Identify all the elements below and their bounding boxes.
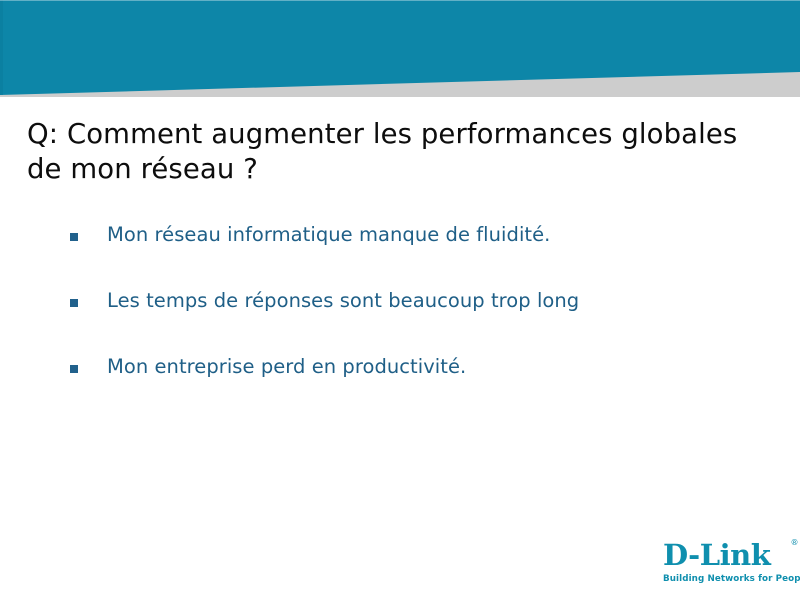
header-top-sliver (0, 0, 800, 1)
square-bullet-icon (70, 233, 78, 241)
slide-title: Q: Comment augmenter les performances gl… (27, 117, 767, 187)
square-bullet-icon (70, 299, 78, 307)
bullet-text: Mon réseau informatique manque de fluidi… (107, 222, 770, 248)
list-item: Les temps de réponses sont beaucoup trop… (70, 288, 770, 354)
dlink-wordmark-text: D-Link ® (663, 541, 791, 570)
dlink-wordmark-label: D-Link (663, 538, 770, 572)
bullet-list: Mon réseau informatique manque de fluidi… (70, 222, 770, 420)
slide: Q: Comment augmenter les performances gl… (0, 0, 800, 600)
header-left-edge (0, 0, 3, 95)
bullet-text: Mon entreprise perd en productivité. (107, 354, 770, 380)
dlink-tagline: Building Networks for People (663, 573, 785, 584)
list-item: Mon entreprise perd en productivité. (70, 354, 770, 420)
header-band (0, 0, 800, 102)
dlink-logo: D-Link ® Building Networks for People (663, 541, 791, 583)
square-bullet-icon (70, 365, 78, 373)
list-item: Mon réseau informatique manque de fluidi… (70, 222, 770, 288)
bullet-text: Les temps de réponses sont beaucoup trop… (107, 288, 770, 314)
registered-trademark-icon: ® (791, 539, 799, 547)
